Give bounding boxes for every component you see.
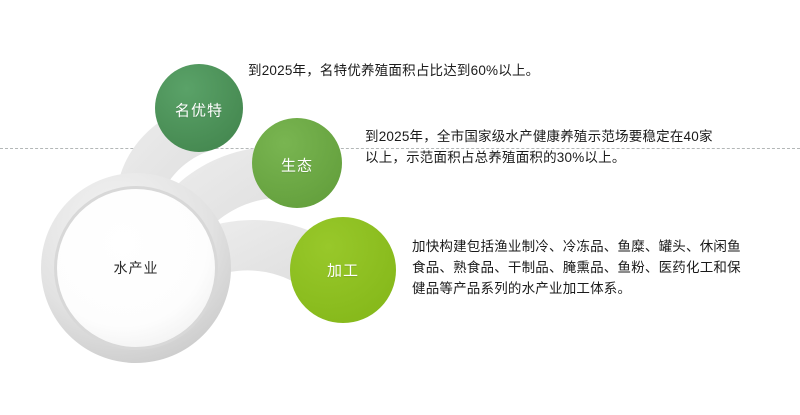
node-label-jiagong: 加工 xyxy=(327,260,359,281)
node-label-shengtai: 生态 xyxy=(281,155,313,176)
node-description-mingyoute: 到2025年，名特优养殖面积占比达到60%以上。 xyxy=(248,60,668,81)
node-label-mingyoute: 名优特 xyxy=(175,100,223,121)
hub-label: 水产业 xyxy=(114,258,159,278)
diagram-canvas: 水产业 名优特 生态 加工 到2025年，名特优养殖面积占比达到60%以上。 到… xyxy=(0,0,800,415)
node-description-shengtai: 到2025年，全市国家级水产健康养殖示范场要稳定在40家以上，示范面积占总养殖面… xyxy=(365,126,720,168)
node-description-jiagong: 加快构建包括渔业制冷、冷冻品、鱼糜、罐头、休闲鱼食品、熟食品、干制品、腌熏品、鱼… xyxy=(412,236,752,299)
